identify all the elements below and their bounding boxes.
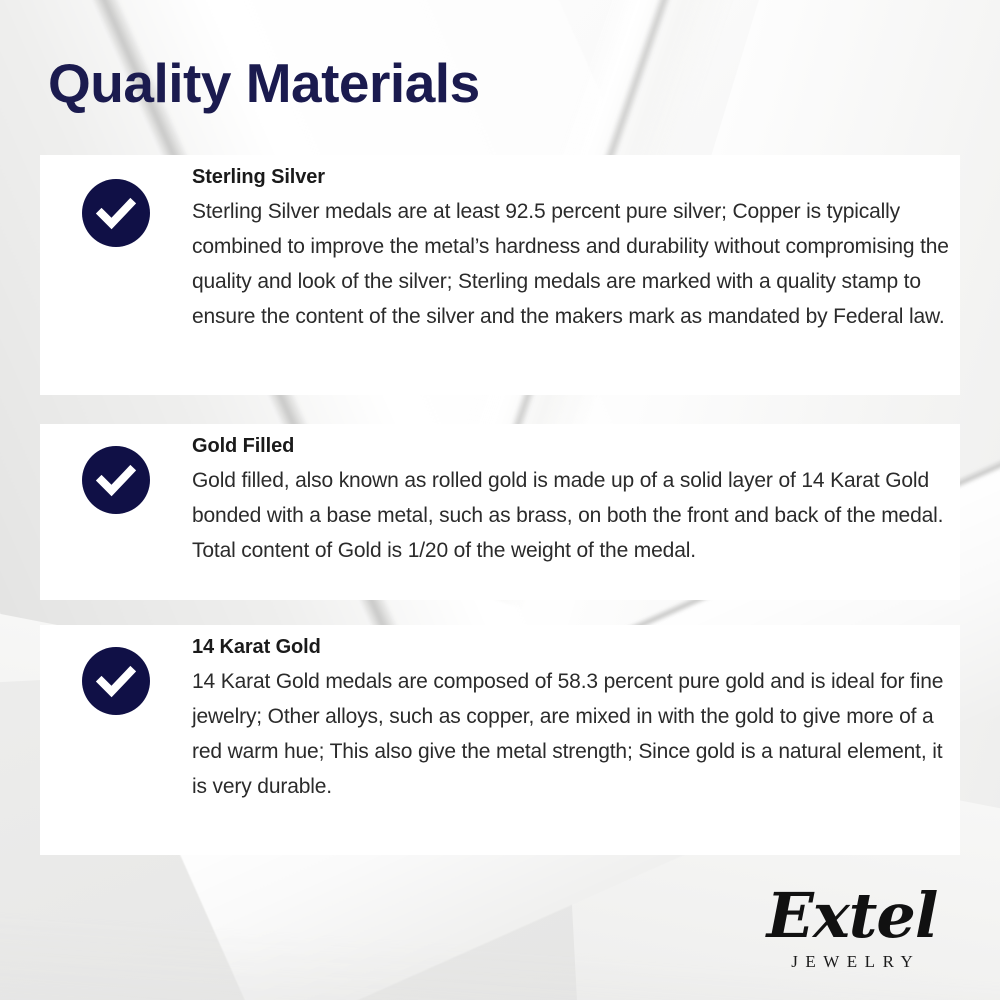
brand-wordmark: Extel [752,887,952,946]
brand-logo: Extel JEWELRY [752,887,952,970]
slide-canvas: Quality Materials Sterling Silver Sterli… [0,0,1000,1000]
check-circle-icon [82,179,150,247]
page-title: Quality Materials [48,55,480,113]
brand-tagline: JEWELRY [752,953,952,970]
check-icon-column [40,424,192,514]
material-text-column: 14 Karat Gold 14 Karat Gold medals are c… [192,625,960,804]
material-description: Gold filled, also known as rolled gold i… [192,463,950,568]
material-card-gold-filled: Gold Filled Gold filled, also known as r… [40,424,960,600]
material-card-sterling-silver: Sterling Silver Sterling Silver medals a… [40,155,960,395]
material-card-14-karat-gold: 14 Karat Gold 14 Karat Gold medals are c… [40,625,960,855]
material-heading: Sterling Silver [192,163,950,192]
check-circle-icon [82,446,150,514]
material-heading: Gold Filled [192,432,950,461]
check-circle-icon [82,647,150,715]
material-text-column: Gold Filled Gold filled, also known as r… [192,424,960,568]
material-description: Sterling Silver medals are at least 92.5… [192,194,950,334]
material-text-column: Sterling Silver Sterling Silver medals a… [192,155,960,334]
material-description: 14 Karat Gold medals are composed of 58.… [192,664,950,804]
check-icon-column [40,625,192,715]
check-icon-column [40,155,192,247]
material-heading: 14 Karat Gold [192,633,950,662]
